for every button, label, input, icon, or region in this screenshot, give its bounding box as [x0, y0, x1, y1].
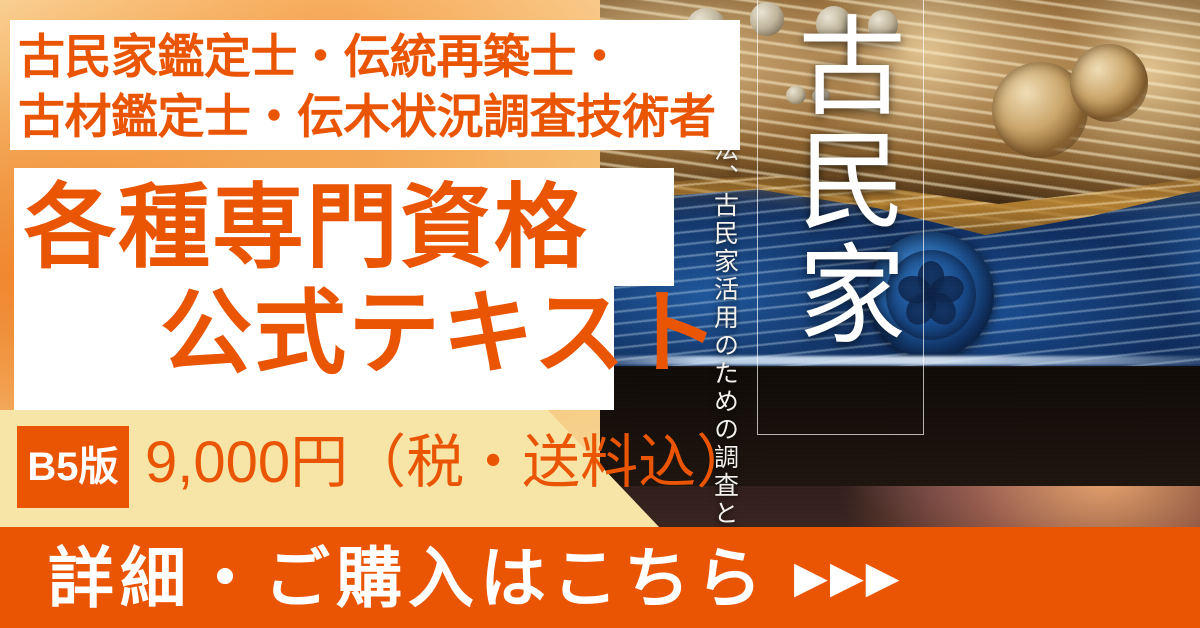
title-line-1: 各種専門資格: [24, 182, 588, 274]
headline-line-2: 古材鑑定士・伝木状況調査技術者: [18, 87, 734, 147]
format-badge: B5版: [17, 426, 129, 508]
cta-arrow-icon[interactable]: ▶▶▶: [794, 556, 902, 600]
promo-banner: 古民家 伝統構法、古民家活用のための調査と再生の 古民家鑑定士・伝統再築士・ 古…: [0, 0, 1200, 628]
cover-title: 古民家: [776, 10, 904, 352]
headline-line-1: 古民家鑑定士・伝統再築士・: [18, 27, 734, 87]
price-text: 9,000円（税・送料込）: [145, 434, 754, 492]
format-badge-label: B5版: [27, 447, 118, 487]
headline-text: 古民家鑑定士・伝統再築士・ 古材鑑定士・伝木状況調査技術者: [18, 27, 734, 146]
cta-label[interactable]: 詳細・ご購入はこちら: [48, 545, 768, 611]
title-line-2: 公式テキスト: [160, 288, 721, 380]
cta-bar[interactable]: 詳細・ご購入はこちら ▶▶▶: [0, 527, 1200, 628]
